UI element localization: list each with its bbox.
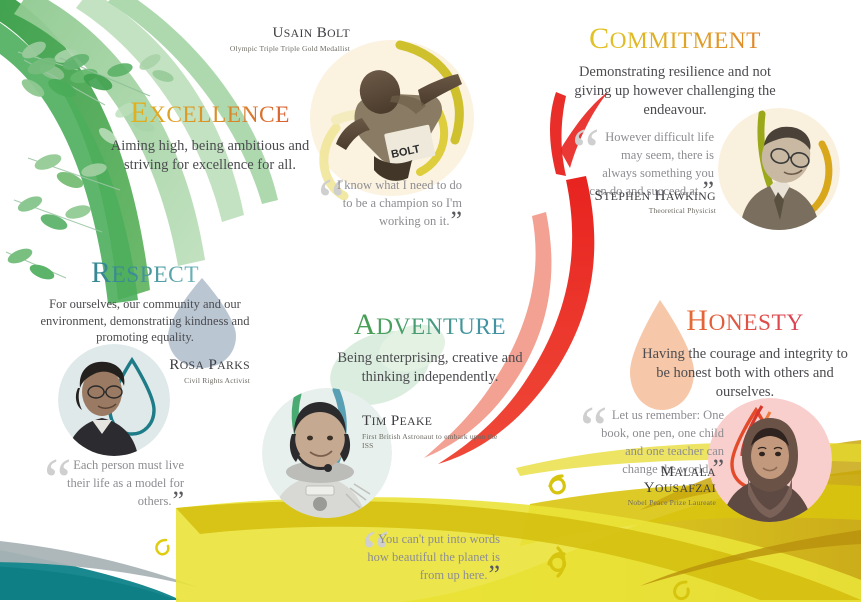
quote-text: Each person must live their life as a mo… xyxy=(44,456,184,510)
value-title-honesty: HONESTY xyxy=(642,306,848,336)
portrait-stephen-hawking xyxy=(718,108,840,230)
value-block-commitment: COMMITMENT Demonstrating resilience and … xyxy=(560,24,790,120)
person-name: TIM PEAKE xyxy=(362,414,498,430)
person-name: ROSA PARKS xyxy=(140,358,250,374)
value-title-commitment: COMMITMENT xyxy=(560,24,790,54)
spiral-flourish-4 xyxy=(156,540,168,554)
quote-body: You can't put into words how beautiful t… xyxy=(367,532,500,582)
malala-yousafzai-image xyxy=(708,398,832,522)
person-role: Civil Rights Activist xyxy=(140,376,250,385)
person-name: MALALA YOUSAFZAI xyxy=(598,464,716,496)
quote-close-mark: ” xyxy=(450,206,462,235)
value-title-adventure: ADVENTURE xyxy=(330,310,530,340)
quote-text: I know what I need to do to be a champio… xyxy=(312,176,462,230)
value-description-honesty: Having the courage and integrity to be h… xyxy=(642,345,848,402)
person-label-rosa-parks: ROSA PARKS Civil Rights Activist xyxy=(140,358,250,385)
value-description-commitment: Demonstrating resilience and not giving … xyxy=(560,63,790,120)
person-label-malala-yousafzai: MALALA YOUSAFZAI Nobel Peace Prize Laure… xyxy=(598,464,716,507)
quote-close-mark: ” xyxy=(488,560,500,589)
quote-body: Each person must live their life as a mo… xyxy=(67,458,184,508)
person-role: Olympic Triple Triple Gold Medallist xyxy=(210,44,350,53)
person-label-stephen-hawking: STEPHEN HAWKING Theoretical Physicist xyxy=(588,188,716,215)
person-label-usain-bolt: USAIN BOLT Olympic Triple Triple Gold Me… xyxy=(210,26,350,53)
person-role: Nobel Peace Prize Laureate xyxy=(598,498,716,507)
spiral-flourish-1 xyxy=(550,476,564,493)
person-role: First British Astronaut to embark upon t… xyxy=(362,432,498,450)
value-description-excellence: Aiming high, being ambitious and strivin… xyxy=(92,137,328,175)
quote-usain-bolt: “ I know what I need to do to be a champ… xyxy=(312,176,462,230)
values-poster: EXCELLENCE Aiming high, being ambitious … xyxy=(0,0,861,606)
quote-text: You can't put into words how beautiful t… xyxy=(348,530,500,584)
quote-tim-peake: “ You can't put into words how beautiful… xyxy=(348,530,500,584)
person-name: STEPHEN HAWKING xyxy=(588,188,716,204)
stephen-hawking-image xyxy=(718,108,840,230)
value-title-respect: RESPECT xyxy=(38,258,252,288)
quote-close-mark: ” xyxy=(172,486,184,515)
value-title-excellence: EXCELLENCE xyxy=(92,98,328,128)
person-label-tim-peake: TIM PEAKE First British Astronaut to emb… xyxy=(362,414,498,450)
value-block-honesty: HONESTY Having the courage and integrity… xyxy=(642,306,848,402)
portrait-tim-peake xyxy=(262,388,392,518)
value-block-respect: RESPECT For ourselves, our community and… xyxy=(38,258,252,346)
tim-peake-image xyxy=(262,388,392,518)
person-role: Theoretical Physicist xyxy=(588,206,716,215)
person-name: USAIN BOLT xyxy=(210,26,350,42)
value-block-adventure: ADVENTURE Being enterprising, creative a… xyxy=(330,310,530,387)
value-description-adventure: Being enterprising, creative and thinkin… xyxy=(330,349,530,387)
portrait-malala-yousafzai xyxy=(708,398,832,522)
quote-rosa-parks: “ Each person must live their life as a … xyxy=(44,456,184,510)
value-block-excellence: EXCELLENCE Aiming high, being ambitious … xyxy=(92,98,328,175)
quote-body: I know what I need to do to be a champio… xyxy=(337,178,462,228)
value-description-respect: For ourselves, our community and our env… xyxy=(38,296,252,346)
